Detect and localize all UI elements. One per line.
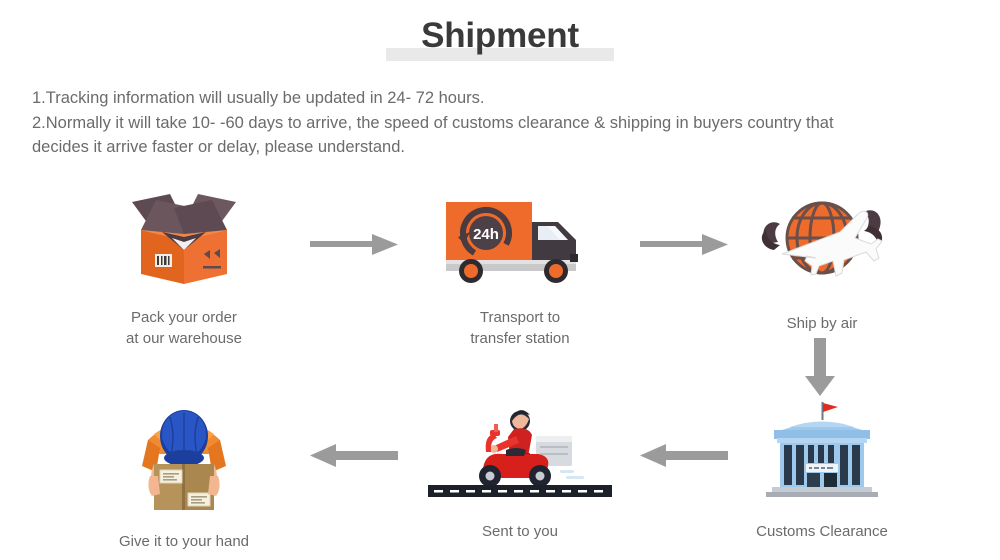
step-customs-caption: Customs Clearance bbox=[722, 521, 922, 542]
step-transport-caption: Transport to transfer station bbox=[420, 307, 620, 349]
step-ship-by-air: Ship by air bbox=[722, 188, 922, 334]
delivery-truck-icon: 24h bbox=[420, 188, 620, 293]
step-give-it-to-your-hand: Give it to your hand bbox=[84, 400, 284, 552]
arrow-left-icon bbox=[310, 440, 398, 479]
open-box-icon bbox=[84, 188, 284, 293]
arrow-right-icon bbox=[640, 228, 728, 267]
page-title: Shipment bbox=[421, 14, 579, 58]
page-header: Shipment bbox=[0, 14, 1000, 58]
step-transport-to-transfer-station: 24h Transport to transfer station bbox=[420, 188, 620, 349]
step-sent-caption: Sent to you bbox=[420, 521, 620, 542]
courier-handoff-icon bbox=[84, 400, 284, 515]
shipping-notes: 1.Tracking information will usually be u… bbox=[32, 86, 972, 160]
truck-24h-badge: 24h bbox=[473, 226, 499, 243]
scooter-courier-icon bbox=[420, 400, 620, 505]
arrow-right-icon bbox=[310, 228, 398, 267]
step-pack-caption: Pack your order at our warehouse bbox=[84, 307, 284, 349]
step-sent-to-you: Sent to you bbox=[420, 400, 620, 542]
note-line-3: decides it arrive faster or delay, pleas… bbox=[32, 135, 972, 160]
arrow-left-icon bbox=[640, 440, 728, 479]
step-customs-clearance: Customs Clearance bbox=[722, 400, 922, 542]
customs-building-icon bbox=[722, 400, 922, 505]
step-air-caption: Ship by air bbox=[722, 313, 922, 334]
step-pack-your-order: Pack your order at our warehouse bbox=[84, 188, 284, 349]
note-line-1: 1.Tracking information will usually be u… bbox=[32, 86, 972, 111]
note-line-2: 2.Normally it will take 10- -60 days to … bbox=[32, 111, 972, 136]
globe-airplane-icon bbox=[722, 188, 922, 293]
step-hand-caption: Give it to your hand bbox=[84, 531, 284, 552]
arrow-down-icon bbox=[800, 338, 840, 401]
